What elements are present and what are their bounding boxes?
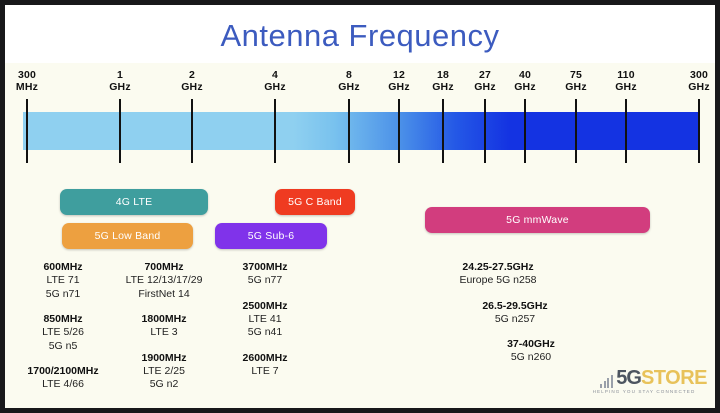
tick-label-300-MHz: 300MHz [0,69,57,93]
frequency-entry: 1800MHzLTE 3 [109,312,219,340]
tick-value: 8 [346,69,352,81]
mid-band-column: 700MHzLTE 12/13/17/29FirstNet 141800MHzL… [109,260,219,403]
tick-unit: GHz [596,81,656,93]
frequency-value: 700MHz [109,260,219,274]
spectrum-gradient-bar [23,112,699,150]
tick-value: 110 [617,69,635,81]
band-designation: 5G n71 [13,288,113,302]
tick-line [119,99,121,163]
band-designation: 5G n260 [477,351,585,365]
tick-unit: GHz [245,81,305,93]
tick-label-300-GHz: 300GHz [669,69,720,93]
tick-label-4-GHz: 4GHz [245,69,305,93]
band-pill-4g-lte[interactable]: 4G LTE [60,189,208,215]
band-designation: 5G n257 [445,313,585,327]
frequency-value: 1700/2100MHz [13,364,113,378]
tick-value: 1 [117,69,123,81]
frequency-value: 2500MHz [215,299,315,313]
antenna-frequency-infographic: Antenna Frequency 300MHz1GHz2GHz4GHz8GHz… [0,0,720,413]
logo-suffix: STORE [641,368,707,388]
band-designation: LTE 3 [109,326,219,340]
tick-label-1-GHz: 1GHz [90,69,150,93]
band-pill-label: 4G LTE [116,196,153,208]
tick-line [26,99,28,163]
frequency-value: 1900MHz [109,351,219,365]
band-designation: LTE 41 [215,313,315,327]
frequency-entry: 1900MHzLTE 2/255G n2 [109,351,219,392]
tick-line [484,99,486,163]
low-band-column: 600MHzLTE 715G n71850MHzLTE 5/265G n5170… [13,260,113,403]
band-pill-5g-c-band[interactable]: 5G C Band [275,189,355,215]
tick-line [274,99,276,163]
band-pill-label: 5G C Band [288,196,342,208]
tick-line [625,99,627,163]
logo-tagline: HELPING YOU STAY CONNECTED [583,388,707,396]
tick-unit: GHz [90,81,150,93]
tick-unit: GHz [162,81,222,93]
tick-line [698,99,700,163]
frequency-scale: 300MHz1GHz2GHz4GHz8GHz12GHz18GHz27GHz40G… [5,63,715,183]
tick-line [398,99,400,163]
logo-wordmark: 5GSTORE [583,368,707,388]
band-designation: Europe 5G n258 [411,274,585,288]
tick-value: 300 [18,69,36,81]
band-designation: LTE 71 [13,274,113,288]
frequency-entry: 26.5-29.5GHz5G n257 [445,299,585,327]
band-pill-5g-sub-6[interactable]: 5G Sub-6 [215,223,327,249]
band-designation: 5G n77 [215,274,315,288]
frequency-entry: 2600MHzLTE 7 [215,351,315,379]
tick-value: 4 [272,69,278,81]
logo-prefix: 5G [616,368,641,388]
band-pill-5g-mmwave[interactable]: 5G mmWave [425,207,650,233]
sub6-column: 3700MHz5G n772500MHzLTE 415G n412600MHzL… [215,260,315,389]
tick-label-110-GHz: 110GHz [596,69,656,93]
frequency-entry: 1700/2100MHzLTE 4/66 [13,364,113,392]
band-designation: 5G n2 [109,378,219,392]
tick-value: 40 [519,69,531,81]
frequency-entry: 2500MHzLTE 415G n41 [215,299,315,340]
tick-unit: GHz [669,81,720,93]
band-designation: 5G n41 [215,326,315,340]
band-pill-label: 5G Low Band [95,230,161,242]
frequency-entry: 24.25-27.5GHzEurope 5G n258 [411,260,585,288]
frequency-value: 3700MHz [215,260,315,274]
band-pill-label: 5G mmWave [506,214,569,226]
frequency-value: 37-40GHz [477,337,585,351]
tick-line [191,99,193,163]
band-pill-group: 4G LTE5G C Band5G Low Band5G Sub-65G mmW… [5,183,715,255]
band-designation: LTE 12/13/17/29 [109,274,219,288]
signal-bars-icon [600,375,614,388]
frequency-value: 1800MHz [109,312,219,326]
band-designation: LTE 5/26 [13,326,113,340]
tick-unit: MHz [0,81,57,93]
band-pill-label: 5G Sub-6 [248,230,295,242]
frequency-entry: 700MHzLTE 12/13/17/29FirstNet 14 [109,260,219,301]
band-designation: 5G n5 [13,340,113,354]
tick-line [348,99,350,163]
frequency-entry: 850MHzLTE 5/265G n5 [13,312,113,353]
tick-value: 18 [437,69,449,81]
tick-value: 2 [189,69,195,81]
frequency-value: 26.5-29.5GHz [445,299,585,313]
band-designation: FirstNet 14 [109,288,219,302]
page-title: Antenna Frequency [5,17,715,55]
tick-value: 75 [570,69,582,81]
band-designation: LTE 2/25 [109,365,219,379]
frequency-value: 24.25-27.5GHz [411,260,585,274]
tick-value: 12 [393,69,405,81]
frequency-entry: 3700MHz5G n77 [215,260,315,288]
mmwave-column: 24.25-27.5GHzEurope 5G n25826.5-29.5GHz5… [435,260,585,376]
tick-line [575,99,577,163]
frequency-entry: 37-40GHz5G n260 [477,337,585,365]
frequency-value: 850MHz [13,312,113,326]
frequency-value: 600MHz [13,260,113,274]
frequency-value: 2600MHz [215,351,315,365]
tick-value: 300 [690,69,708,81]
5gstore-logo: 5GSTORE HELPING YOU STAY CONNECTED [583,368,707,400]
frequency-entry: 600MHzLTE 715G n71 [13,260,113,301]
band-designation: LTE 4/66 [13,378,113,392]
band-pill-5g-low-band[interactable]: 5G Low Band [62,223,193,249]
tick-line [442,99,444,163]
band-designation: LTE 7 [215,365,315,379]
tick-value: 27 [479,69,491,81]
tick-label-2-GHz: 2GHz [162,69,222,93]
tick-line [524,99,526,163]
